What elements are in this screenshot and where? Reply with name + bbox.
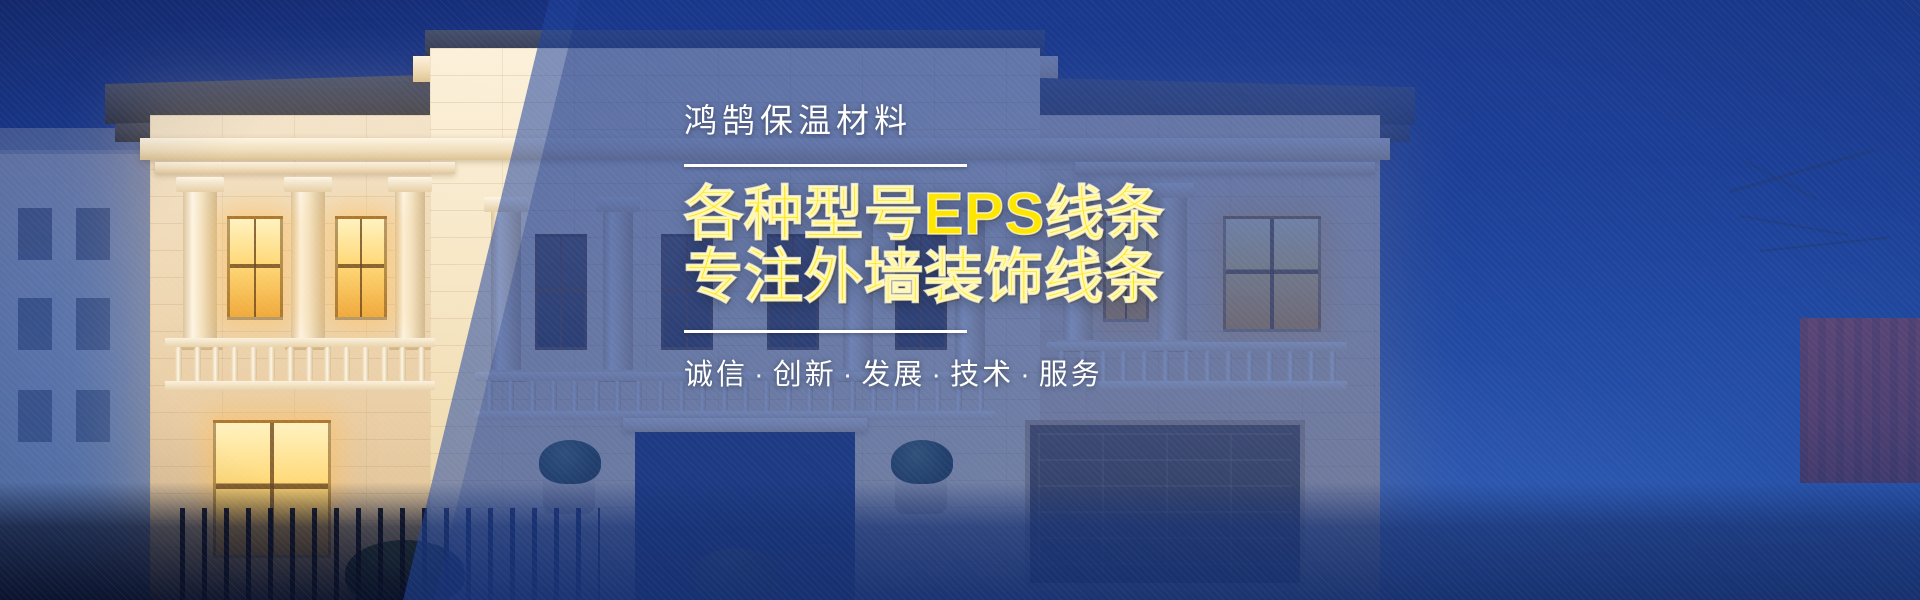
tagline-item-1: 诚信: [684, 359, 748, 391]
tagline: 诚信·创新·发展·技术·服务: [684, 351, 1384, 393]
tagline-dot: ·: [1014, 359, 1039, 391]
tagline-item-5: 服务: [1039, 359, 1103, 391]
tagline-dot: ·: [748, 359, 773, 391]
headline-group: 各种型号EPS线条 专注外墙装饰线条: [684, 183, 1384, 308]
divider-bottom: [684, 330, 967, 333]
tagline-dot: ·: [837, 359, 862, 391]
tagline-item-2: 创新: [773, 359, 837, 391]
tagline-item-4: 技术: [950, 359, 1014, 391]
headline-line-2: 专注外墙装饰线条: [684, 246, 1384, 309]
tagline-item-3: 发展: [861, 359, 925, 391]
brand-name: 鸿鹄保温材料: [684, 104, 1384, 137]
hero-banner: 鸿鹄保温材料 各种型号EPS线条 专注外墙装饰线条 诚信·创新·发展·技术·服务: [0, 0, 1920, 600]
banner-text-block: 鸿鹄保温材料 各种型号EPS线条 专注外墙装饰线条 诚信·创新·发展·技术·服务: [684, 104, 1384, 393]
headline-line-1: 各种型号EPS线条: [684, 183, 1384, 246]
divider-bottom-wrap: [684, 330, 1384, 333]
divider-top: [684, 164, 967, 167]
tagline-dot: ·: [925, 359, 950, 391]
